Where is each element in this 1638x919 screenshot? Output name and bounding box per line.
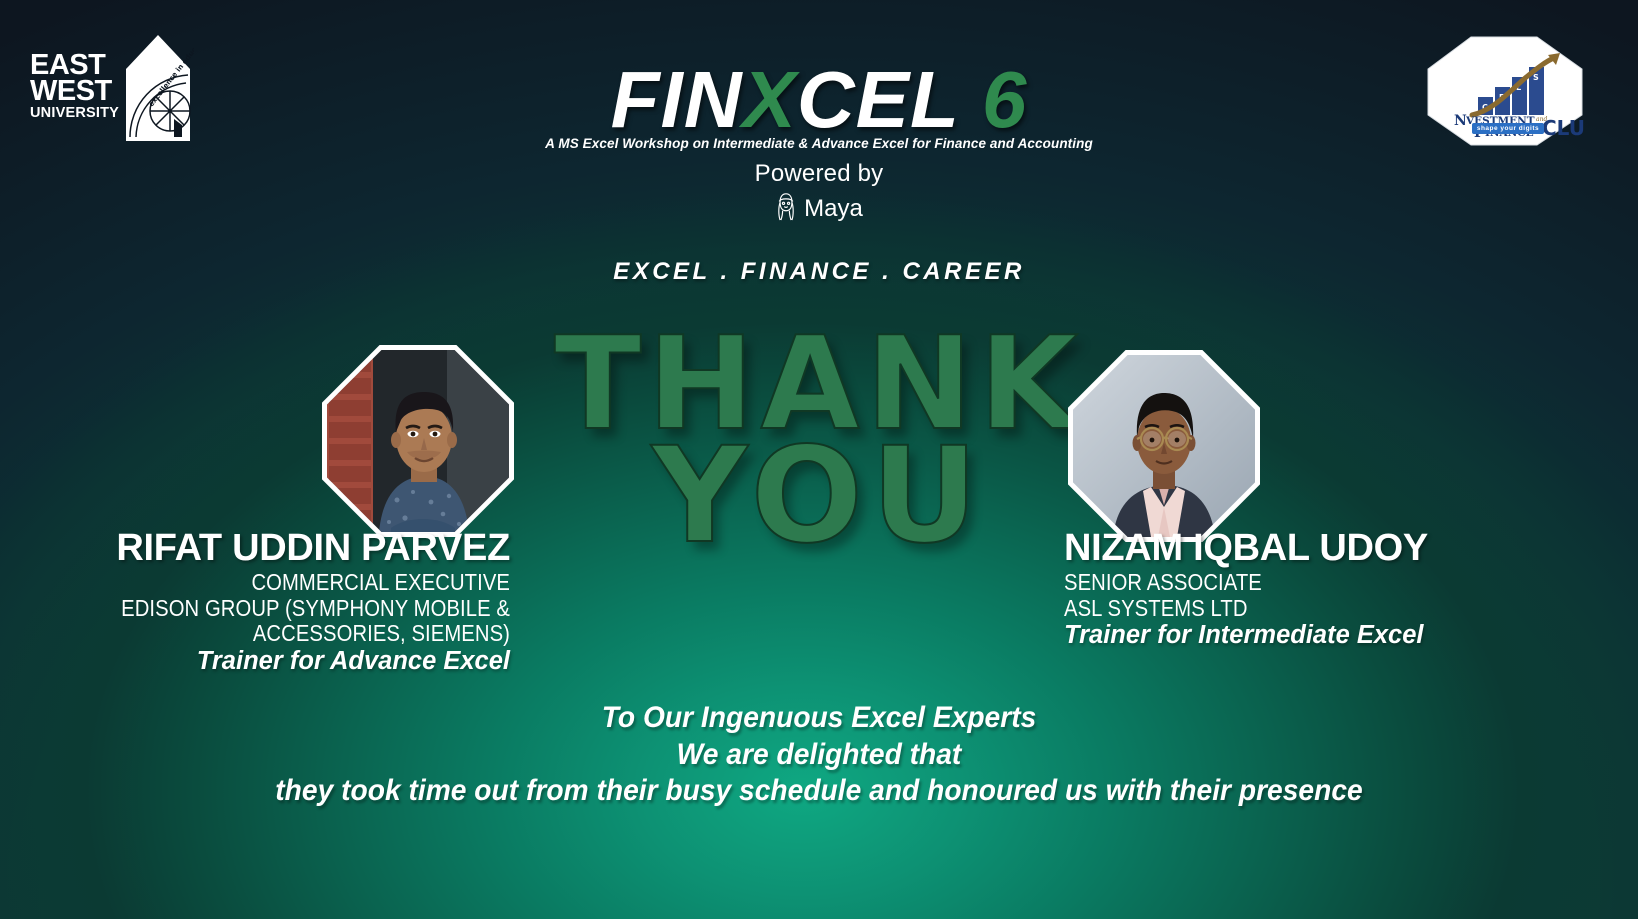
speaker-right-name: NIZAM IQBAL UDOY — [1064, 529, 1624, 569]
speaker-right-organization: ASL SYSTEMS LTD — [1064, 595, 1557, 621]
avatar — [1073, 355, 1255, 537]
speaker-left-role: COMMERCIAL EXECUTIVE — [0, 569, 510, 595]
event-subtitle: A MS Excel Workshop on Intermediate & Ad… — [0, 136, 1638, 151]
thank-you-message: To Our Ingenuous Excel Experts We are de… — [0, 700, 1638, 810]
title-x: X — [743, 55, 797, 144]
thank-you-line-1: THANK — [554, 330, 1084, 440]
speaker-left-organization: EDISON GROUP (SYMPHONY MOBILE & ACCESSOR… — [0, 595, 510, 647]
header-block: FINXCEL6 A MS Excel Workshop on Intermed… — [0, 60, 1638, 286]
message-line-2: We are delighted that — [49, 737, 1589, 774]
event-tagline: EXCEL . FINANCE . CAREER — [0, 258, 1638, 286]
message-line-3: they took time out from their busy sched… — [49, 773, 1589, 810]
powered-by-label: Powered by — [0, 160, 1638, 188]
message-line-1: To Our Ingenuous Excel Experts — [49, 700, 1589, 737]
speaker-right-trainer-label: Trainer for Intermediate Excel — [1064, 621, 1624, 650]
sponsor-name: Maya — [804, 195, 863, 223]
speaker-left-info: RIFAT UDDIN PARVEZ COMMERCIAL EXECUTIVE … — [0, 529, 510, 676]
title-fin: FIN — [611, 55, 743, 144]
avatar — [327, 350, 509, 532]
speaker-left-trainer-label: Trainer for Advance Excel — [0, 647, 510, 676]
sponsor-row: Maya — [0, 192, 1638, 226]
speaker-right-info: NIZAM IQBAL UDOY SENIOR ASSOCIATE ASL SY… — [1064, 529, 1624, 650]
speaker-left-photo — [322, 345, 514, 537]
thank-you-poster: EAST WEST UNIVERSITY excellence in educa… — [0, 0, 1638, 919]
thank-you-headline: THANK YOU — [554, 330, 1084, 554]
speaker-right-photo — [1068, 350, 1260, 542]
thank-you-line-2: YOU — [554, 440, 1084, 554]
event-logo-title: FINXCEL6 — [611, 60, 1028, 140]
speaker-right-role: SENIOR ASSOCIATE — [1064, 569, 1557, 595]
speaker-left-name: RIFAT UDDIN PARVEZ — [0, 529, 510, 569]
maya-woman-icon — [775, 192, 797, 226]
title-edition-number: 6 — [982, 55, 1028, 144]
title-cel: CEL — [797, 55, 960, 144]
